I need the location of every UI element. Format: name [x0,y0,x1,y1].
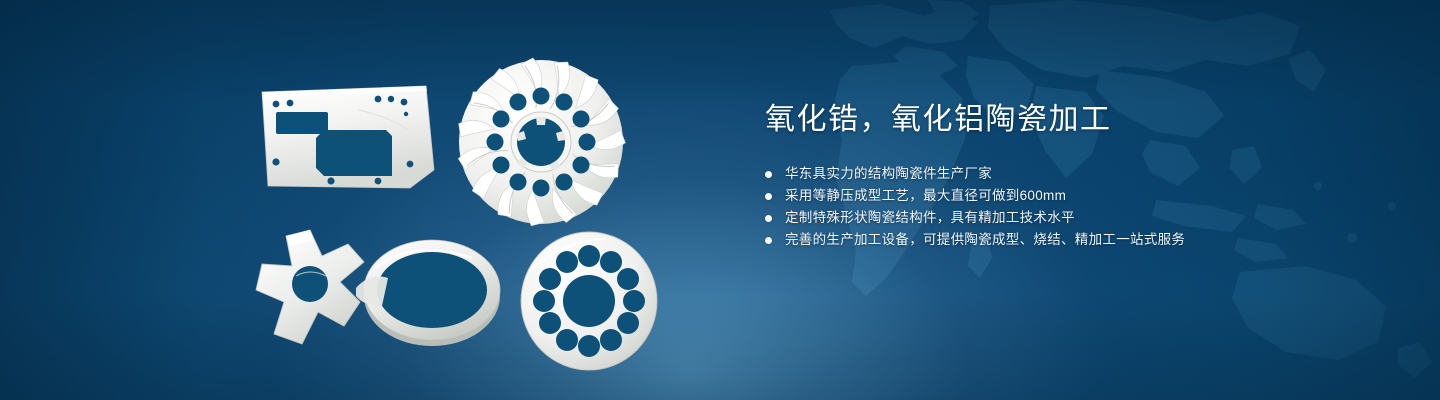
list-item: 采用等静压成型工艺，最大直径可做到600mm [765,185,1405,207]
list-item: 华东具实力的结构陶瓷件生产厂家 [765,163,1405,185]
feature-text: 完善的生产加工设备，可提供陶瓷成型、烧结、精加工一站式服务 [785,233,1185,247]
ceramic-ring [352,228,512,354]
bullet-dot-icon [765,215,772,222]
bullet-dot-icon [765,171,772,178]
list-item: 完善的生产加工设备，可提供陶瓷成型、烧结、精加工一站式服务 [765,229,1405,251]
bullet-dot-icon [765,193,772,200]
list-item: 定制特殊形状陶瓷结构件，具有精加工技术水平 [765,207,1405,229]
banner-headline: 氧化锆，氧化铝陶瓷加工 [765,105,1405,135]
ceramic-perforated-disc [518,230,660,372]
bullet-dot-icon [765,237,772,244]
feature-text: 定制特殊形状陶瓷结构件，具有精加工技术水平 [785,211,1075,225]
feature-list: 华东具实力的结构陶瓷件生产厂家 采用等静压成型工艺，最大直径可做到600mm 定… [765,163,1405,251]
ceramic-plate-with-cutouts [258,82,438,194]
banner-text-column: 氧化锆，氧化铝陶瓷加工 华东具实力的结构陶瓷件生产厂家 采用等静压成型工艺，最大… [765,105,1405,251]
feature-text: 采用等静压成型工艺，最大直径可做到600mm [785,189,1066,203]
ceramic-impeller-disc [452,52,630,230]
product-photo-group [0,0,720,400]
feature-text: 华东具实力的结构陶瓷件生产厂家 [785,167,992,181]
promo-banner: 氧化锆，氧化铝陶瓷加工 华东具实力的结构陶瓷件生产厂家 采用等静压成型工艺，最大… [0,0,1440,400]
